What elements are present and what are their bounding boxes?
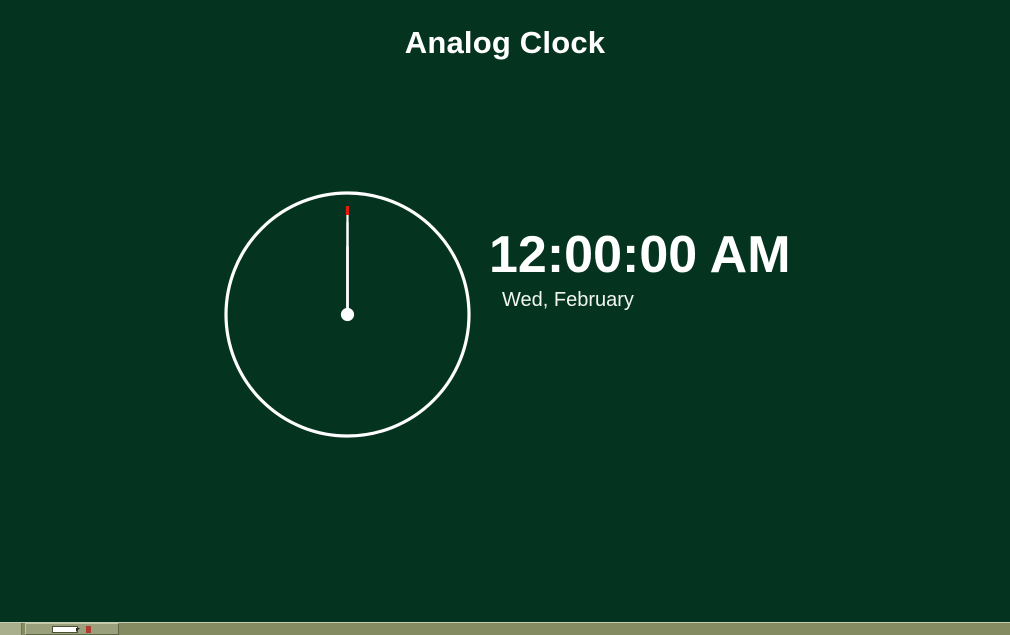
cursor-icon [76, 628, 80, 632]
start-button[interactable] [0, 623, 22, 635]
app-badge-icon [86, 626, 91, 633]
taskbar-item-list [22, 623, 119, 635]
digital-readout: 12:00:00 AM Wed, February [489, 226, 909, 312]
digital-date-text: Wed, February [502, 288, 909, 312]
clock-app-window: Analog Clock 12:00:00 AM Wed, February [0, 0, 1010, 622]
digital-time-text: 12:00:00 AM [489, 226, 909, 284]
taskbar [0, 622, 1010, 635]
taskbar-item[interactable] [25, 623, 119, 635]
analog-clock-face [224, 191, 471, 438]
window-icon [52, 626, 78, 633]
clock-area: 12:00:00 AM Wed, February [0, 0, 1010, 622]
clock-center-hub [341, 308, 354, 321]
